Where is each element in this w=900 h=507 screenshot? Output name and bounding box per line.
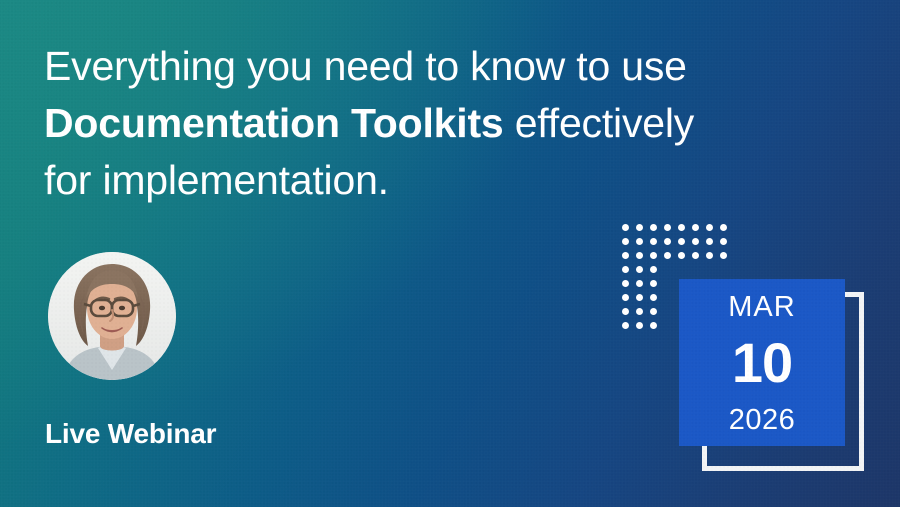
grid-dot xyxy=(650,294,657,301)
speaker-portrait-icon xyxy=(48,252,176,380)
grid-dot xyxy=(636,322,643,329)
grid-dot xyxy=(706,238,713,245)
grid-dot xyxy=(622,280,629,287)
grid-dot xyxy=(706,224,713,231)
grid-dot xyxy=(692,252,699,259)
avatar xyxy=(48,252,176,380)
date-day: 10 xyxy=(732,335,792,391)
grid-dot xyxy=(636,308,643,315)
grid-dot xyxy=(664,238,671,245)
grid-dot xyxy=(720,224,727,231)
grid-dot xyxy=(636,266,643,273)
date-year: 2026 xyxy=(729,406,796,435)
grid-dot xyxy=(650,238,657,245)
grid-dot xyxy=(636,280,643,287)
headline-line-1: Everything you need to know to use xyxy=(44,43,698,89)
webinar-promo-banner: Everything you need to know to use Docum… xyxy=(0,0,900,507)
date-month: MAR xyxy=(728,293,795,322)
grid-dot xyxy=(706,252,713,259)
grid-dot xyxy=(692,238,699,245)
headline-emphasis: Documentation Toolkits xyxy=(44,100,504,146)
grid-dot xyxy=(650,322,657,329)
grid-dot xyxy=(678,252,685,259)
grid-dot xyxy=(650,308,657,315)
date-card: MAR 10 2026 xyxy=(679,279,845,446)
grid-dot xyxy=(664,224,671,231)
grid-dot xyxy=(622,238,629,245)
live-webinar-label: Live Webinar xyxy=(45,418,216,450)
grid-dot xyxy=(720,252,727,259)
headline-line-2: effectively xyxy=(504,100,695,146)
page-title: Everything you need to know to use Docum… xyxy=(44,38,804,209)
grid-dot xyxy=(622,308,629,315)
grid-dot xyxy=(636,294,643,301)
grid-dot xyxy=(622,252,629,259)
grid-dot xyxy=(622,322,629,329)
grid-dot xyxy=(678,238,685,245)
grid-dot xyxy=(678,224,685,231)
grid-dot xyxy=(692,224,699,231)
grid-dot xyxy=(650,266,657,273)
grid-dot xyxy=(622,224,629,231)
grid-dot xyxy=(636,238,643,245)
grid-dot xyxy=(664,252,671,259)
grid-dot xyxy=(720,238,727,245)
grid-dot xyxy=(650,280,657,287)
headline-line-3: for implementation. xyxy=(44,157,389,203)
grid-dot xyxy=(636,252,643,259)
grid-dot xyxy=(622,294,629,301)
grid-dot xyxy=(622,266,629,273)
grid-dot xyxy=(650,252,657,259)
grid-dot xyxy=(650,224,657,231)
grid-dot xyxy=(636,224,643,231)
